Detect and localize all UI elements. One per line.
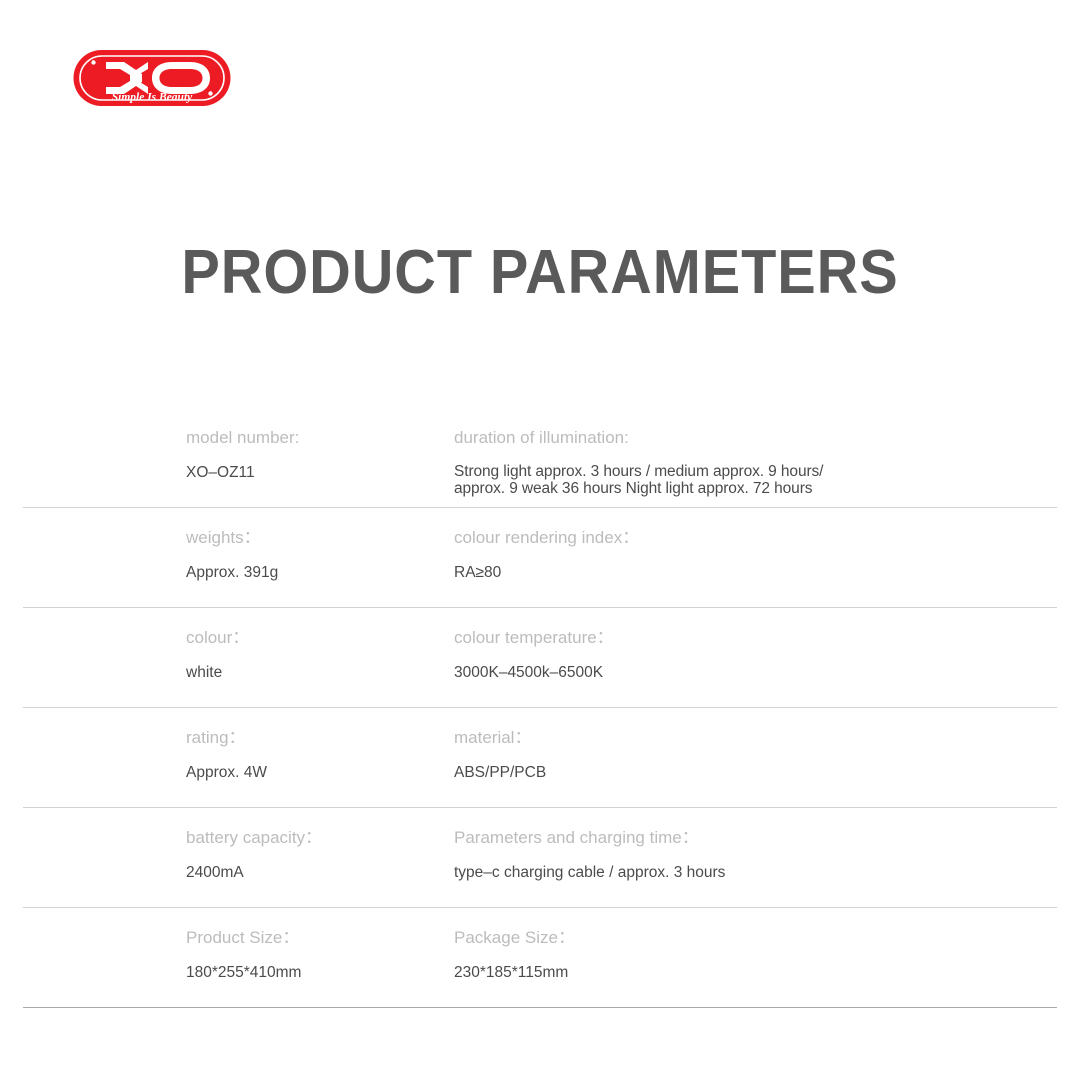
brand-tagline: Simple Is Beauty — [112, 92, 193, 104]
xo-brand-logo: Simple Is Beauty — [72, 48, 232, 108]
table-row: colour： white colour temperature： 3000K–… — [23, 608, 1057, 708]
spec-value: white — [186, 664, 454, 681]
table-row: rating： Approx. 4W material： ABS/PP/PCB — [23, 708, 1057, 808]
table-row: weights： Approx. 391g colour rendering i… — [23, 508, 1057, 608]
table-row: Product Size： 180*255*410mm Package Size… — [23, 908, 1057, 1008]
spec-label: colour rendering index： — [454, 528, 1057, 548]
spec-value: RA≥80 — [454, 564, 1057, 581]
spec-label: weights： — [186, 528, 454, 548]
product-parameters-page: Simple Is Beauty PRODUCT PARAMETERS mode… — [0, 0, 1080, 1080]
spec-cell-parameters-and-charging-time: Parameters and charging time： type–c cha… — [454, 808, 1057, 907]
spec-label: Parameters and charging time： — [454, 828, 1057, 848]
spec-cell-rating: rating： Approx. 4W — [23, 708, 454, 807]
table-row: battery capacity： 2400mA Parameters and … — [23, 808, 1057, 908]
spec-cell-product-size: Product Size： 180*255*410mm — [23, 908, 454, 1007]
spec-value: 230*185*115mm — [454, 964, 1057, 981]
spec-value: Strong light approx. 3 hours / medium ap… — [454, 463, 1057, 497]
spec-cell-weights: weights： Approx. 391g — [23, 508, 454, 607]
spec-value: 2400mA — [186, 864, 454, 881]
spec-label: battery capacity： — [186, 828, 454, 848]
table-row: model number: XO–OZ11 duration of illumi… — [23, 408, 1057, 508]
page-title: PRODUCT PARAMETERS — [38, 236, 1042, 310]
specifications-table: model number: XO–OZ11 duration of illumi… — [23, 408, 1057, 1008]
spec-value: 180*255*410mm — [186, 964, 454, 981]
spec-value: Approx. 4W — [186, 764, 454, 781]
spec-cell-colour-rendering-index: colour rendering index： RA≥80 — [454, 508, 1057, 607]
spec-label: Package Size： — [454, 928, 1057, 948]
spec-cell-material: material： ABS/PP/PCB — [454, 708, 1057, 807]
spec-value: type–c charging cable / approx. 3 hours — [454, 864, 1057, 881]
spec-value: XO–OZ11 — [186, 464, 454, 481]
spec-cell-package-size: Package Size： 230*185*115mm — [454, 908, 1057, 1007]
spec-label: model number: — [186, 428, 454, 448]
spec-label: colour： — [186, 628, 454, 648]
spec-label: rating： — [186, 728, 454, 748]
spec-label: duration of illumination: — [454, 428, 1057, 448]
spec-value: Approx. 391g — [186, 564, 454, 581]
spec-label: material： — [454, 728, 1057, 748]
spec-cell-duration-of-illumination: duration of illumination: Strong light a… — [454, 408, 1057, 507]
spec-cell-model-number: model number: XO–OZ11 — [23, 408, 454, 507]
spec-cell-colour: colour： white — [23, 608, 454, 707]
spec-label: colour temperature： — [454, 628, 1057, 648]
spec-cell-battery-capacity: battery capacity： 2400mA — [23, 808, 454, 907]
spec-value: 3000K–4500k–6500K — [454, 664, 1057, 681]
spec-value: ABS/PP/PCB — [454, 764, 1057, 781]
xo-logo-icon: Simple Is Beauty — [72, 48, 232, 108]
spec-cell-colour-temperature: colour temperature： 3000K–4500k–6500K — [454, 608, 1057, 707]
spec-label: Product Size： — [186, 928, 454, 948]
